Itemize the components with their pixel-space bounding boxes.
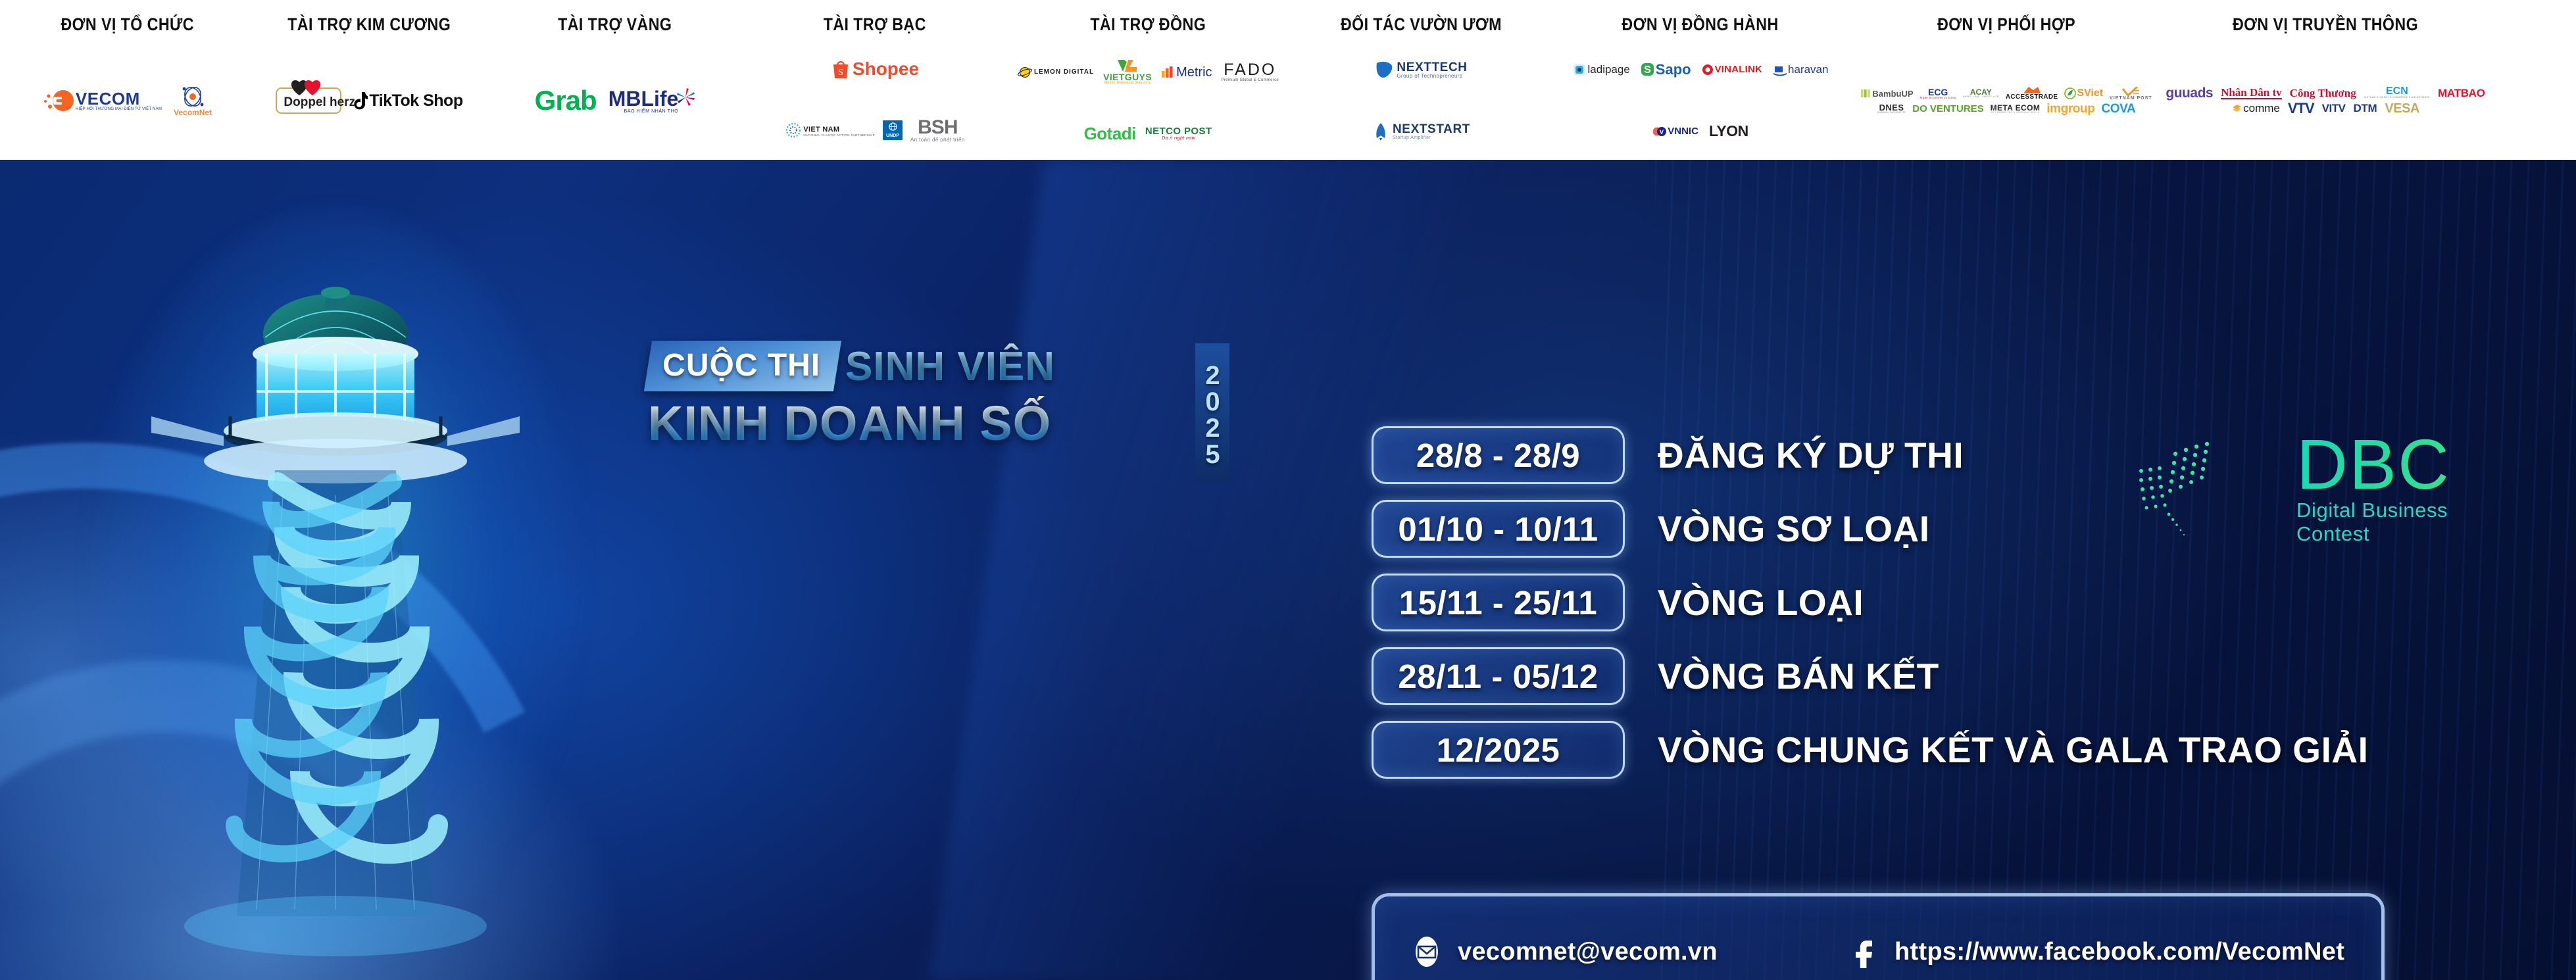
logo-label: Công Thương (2290, 87, 2356, 99)
logo-label: VITV (2322, 103, 2346, 114)
sponsor-logo-group: LEMON DIGITAL VIETGUYS Mobile Marketing … (1003, 35, 1293, 160)
logo-label: guuads (2166, 86, 2213, 100)
timeline-date: 01/10 - 10/11 (1398, 510, 1598, 549)
sponsor-section-title: ĐƠN VỊ TỔ CHỨC (61, 14, 194, 35)
logo-label: VIETNAM POST (2110, 96, 2152, 101)
logo-cong-thuong[interactable]: Công Thương (2290, 87, 2356, 99)
logo-label: LYON (1709, 124, 1748, 139)
sponsor-section-bronze: TÀI TRỢ ĐỒNG LEMON DIGITAL VIETGUYS Mobi… (1003, 0, 1293, 160)
sponsor-section-coordinator: ĐƠN VỊ PHỐI HỢP BambuUP ECG Make Ecommer… (1852, 0, 2161, 160)
logo-nextstart[interactable]: NEXTSTART Startup Amplifier (1322, 122, 1519, 141)
logo-label: ladipage (1588, 64, 1630, 75)
ladipage-mark-icon (1573, 63, 1586, 76)
logo-label: MBLife (608, 87, 679, 110)
shopee-bag-icon: S (831, 59, 851, 80)
svg-text:S: S (1644, 64, 1651, 76)
contact-info-box: vecomnet@vecom.vn https://www.facebook.c… (1372, 893, 2385, 980)
sponsor-section-title: TÀI TRỢ VÀNG (558, 14, 672, 35)
logo-label: VTV (2288, 101, 2314, 116)
timeline-date-chip: 15/11 - 25/11 (1372, 574, 1625, 631)
logo-label: Gotadi (1084, 125, 1136, 142)
logo-bambuup[interactable]: BambuUP (1860, 88, 1913, 99)
logo-metric[interactable]: Metric (1161, 66, 1212, 79)
dbc-text-block: DBC Digital Business Contest (2296, 431, 2503, 545)
logo-ladipage[interactable]: ladipage (1573, 63, 1630, 76)
logo-label: Sapo (1656, 62, 1691, 77)
lemon-planet-icon (1017, 65, 1033, 80)
sponsor-section-silver: TÀI TRỢ BẠC S Shopee VIET NAM NATIONAL P… (747, 0, 1003, 160)
svg-text:S: S (838, 68, 843, 78)
logo-nexttech[interactable]: NEXTTECH Group of Technopreneurs (1322, 61, 1519, 79)
logo-sapo[interactable]: S Sapo (1641, 62, 1691, 77)
logo-doppelherz[interactable]: Doppel herz (276, 87, 341, 113)
logo-comme[interactable]: comme (2231, 103, 2280, 114)
comme-mark-icon (2231, 103, 2242, 114)
logo-sublabel: Group of Technopreneurs (1397, 74, 1467, 79)
logo-label: BambuUP (1872, 89, 1913, 98)
vietnam-post-mark-icon (2121, 87, 2140, 96)
logo-sublabel: HIỆP HỘI THƯƠNG MẠI ĐIỆN TỬ VIỆT NAM (76, 107, 162, 111)
logo-ecn[interactable]: ECN VIETNAM STUDENT E-COMMERCE CLUB NETW… (2364, 86, 2430, 99)
logo-label: Grab (535, 87, 597, 114)
timeline-date: 28/8 - 28/9 (1416, 436, 1580, 475)
contest-timeline: 28/8 - 28/9 ĐĂNG KÝ DỰ THI 01/10 - 10/11… (1372, 420, 2161, 788)
contact-email[interactable]: vecomnet@vecom.vn (1409, 934, 1830, 969)
haravan-mark-icon (1773, 63, 1787, 76)
logo-label: COVA (2101, 103, 2135, 115)
undp-globe-icon (889, 122, 897, 131)
title-chip-cuocthi: CUỘC THI (644, 341, 841, 391)
logo-sublabel: Startup Amplifier (1393, 135, 1470, 140)
bambuup-mark-icon (1860, 88, 1871, 99)
dbc-tagline: Digital Business Contest (2296, 499, 2503, 546)
logo-lyon[interactable]: LYON (1709, 124, 1748, 139)
email-icon (1409, 934, 1445, 969)
logo-label: VecomNet (174, 109, 212, 116)
timeline-date-chip: 12/2025 (1372, 721, 1625, 779)
timeline-date-chip: 28/8 - 28/9 (1372, 426, 1625, 484)
logo-matbao[interactable]: MATBAO (2438, 87, 2485, 99)
logo-vinalink[interactable]: VINALINK (1702, 64, 1762, 76)
logo-label: ECN (2386, 86, 2408, 97)
logo-label: NEXTTECH (1397, 61, 1467, 74)
nextstart-rocket-icon (1372, 122, 1390, 141)
logo-label: Doppel herz (284, 97, 334, 108)
logo-gotadi[interactable]: Gotadi (1084, 125, 1136, 142)
sponsor-section-organizer: ĐƠN VỊ TỔ CHỨC VECOM HIỆP HỘI THƯƠNG MẠI… (0, 0, 255, 160)
sponsor-bar: ĐƠN VỊ TỔ CHỨC VECOM HIỆP HỘI THƯƠNG MẠI… (0, 0, 2576, 160)
logo-vesa[interactable]: VESA (2385, 102, 2419, 115)
lighthouse-illustration (125, 219, 546, 962)
mblife-burst-icon (676, 87, 695, 109)
sponsor-section-title: TÀI TRỢ BẠC (824, 14, 926, 35)
sponsor-section-title: ĐƠN VỊ TRUYỀN THÔNG (2233, 14, 2418, 35)
logo-label: MATBAO (2438, 87, 2485, 99)
logo-label: NETCO POST (1145, 126, 1212, 136)
logo-sublabel: GET MARKETING & LEARNING SKILLS (1991, 112, 2039, 114)
logo-label: VIET NAM (803, 126, 839, 134)
logo-label: comme (2243, 103, 2280, 114)
timeline-date: 12/2025 (1437, 731, 1560, 770)
logo-do-ventures[interactable]: DO VENTURES (1912, 104, 1983, 114)
logo-label: NEXTSTART (1393, 122, 1470, 136)
hearts-icon (287, 79, 327, 96)
logo-ecg[interactable]: ECG Make Ecommerce Easy (1920, 87, 1956, 100)
logo-label: VNNIC (1668, 126, 1698, 136)
sponsor-logo-group: VECOM HIỆP HỘI THƯƠNG MẠI ĐIỆN TỬ VIỆT N… (39, 35, 216, 160)
timeline-date-chip: 01/10 - 10/11 (1372, 500, 1625, 558)
timeline-label: VÒNG LOẠI (1658, 581, 1864, 624)
logo-fado[interactable]: FADO Premium Global E-Commerce (1222, 62, 1279, 82)
logo-label: Nhân Dân tv (2221, 87, 2282, 99)
dbc-wordmark: DBC (2296, 431, 2503, 497)
sponsor-section-title: ĐƠN VỊ ĐỒNG HÀNH (1622, 14, 1779, 35)
timeline-row: 28/8 - 28/9 ĐĂNG KÝ DỰ THI (1372, 420, 2161, 491)
contact-email-text: vecomnet@vecom.vn (1458, 938, 1718, 966)
contact-facebook[interactable]: https://www.facebook.com/VecomNet (1846, 934, 2347, 969)
logo-label: TikTok Shop (369, 93, 462, 109)
sponsor-logo-group: S Shopee VIET NAM NATIONAL PLASTIC ACTIO… (747, 35, 1003, 160)
logo-label: UNDP (886, 134, 899, 138)
logo-haravan[interactable]: haravan (1773, 63, 1828, 76)
logo-sviet[interactable]: SViet (2064, 87, 2103, 99)
logo-mblife[interactable]: MBLife BẢO HIỂM NHÂN THỌ (608, 87, 696, 114)
logo-tiktok-shop[interactable]: TikTok Shop (352, 91, 462, 110)
logo-label: VINALINK (1715, 64, 1762, 74)
logo-label: VIETGUYS (1103, 72, 1152, 82)
vinalink-mark-icon (1702, 64, 1714, 76)
logo-imgroup[interactable]: imgroup (2046, 103, 2094, 115)
logo-sublabel: An toàn để phát triển (910, 137, 965, 143)
vietguys-mark-icon (1116, 59, 1139, 72)
sapo-mark-icon: S (1641, 62, 1654, 76)
logo-label: Metric (1176, 66, 1212, 79)
logo-vietnam-post[interactable]: VIETNAM POST (2110, 87, 2152, 101)
vnnic-mark-icon: V (1652, 125, 1667, 138)
logo-label: META ECOM (1991, 104, 2041, 112)
vecom-mark-icon (43, 87, 74, 114)
logo-label: SViet (2077, 88, 2103, 99)
metric-bars-icon (1161, 66, 1174, 78)
logo-sublabel: DANANG INCUBATOR (1877, 112, 1906, 114)
logo-label: BSH (918, 118, 957, 137)
logo-vnnic[interactable]: V VNNIC (1652, 125, 1698, 138)
hero-banner: CUỘC THI SINH VIÊN KINH DOANH SỐ 2025 (0, 160, 2576, 980)
logo-label: VESA (2385, 102, 2419, 115)
facebook-icon (1846, 934, 1881, 969)
vecomnet-atom-icon (180, 86, 206, 108)
title-row-top: CUỘC THI SINH VIÊN (648, 341, 1227, 391)
logo-label: imgroup (2046, 103, 2094, 115)
logo-meta-ecom[interactable]: META ECOM GET MARKETING & LEARNING SKILL… (1991, 104, 2041, 114)
timeline-label: VÒNG BÁN KẾT (1658, 655, 1939, 697)
timeline-date: 28/11 - 05/12 (1398, 657, 1598, 696)
lighthouse-icon (125, 219, 546, 962)
logo-label: DTM (2353, 103, 2377, 114)
logo-bsh[interactable]: BSH An toàn để phát triển (910, 118, 965, 143)
logo-cova[interactable]: COVA (2101, 103, 2135, 115)
title-row-bottom: KINH DOANH SỐ (648, 395, 1227, 451)
logo-netco-post[interactable]: NETCO POST Do it right now (1145, 126, 1212, 141)
logo-label: haravan (1788, 64, 1828, 75)
logo-label: FADO (1224, 62, 1276, 78)
contest-title-lockup: CUỘC THI SINH VIÊN KINH DOANH SỐ 2025 (648, 341, 1227, 492)
sponsor-logo-group: BambuUP ECG Make Ecommerce Easy ACAY HAP… (1852, 35, 2161, 160)
sponsor-section-media: ĐƠN VỊ TRUYỀN THÔNG guuads Nhân Dân tv C… (2161, 0, 2490, 160)
title-chip-label: CUỘC THI (662, 347, 820, 383)
sponsor-section-gold: TÀI TRỢ VÀNG Grab MBLife BẢO HIỂM NHÂN T… (483, 0, 747, 160)
timeline-label: ĐĂNG KÝ DỰ THI (1658, 434, 1964, 476)
sponsor-section-diamond: TÀI TRỢ KIM CƯƠNG Doppel herz TikTok Sho… (255, 0, 483, 160)
logo-guuads[interactable]: guuads (2166, 86, 2213, 100)
sponsor-logo-group: Grab MBLife BẢO HIỂM NHÂN THỌ (531, 35, 700, 160)
logo-vitv[interactable]: VITV (2322, 103, 2346, 114)
sponsor-logo-group: NEXTTECH Group of Technopreneurs NEXTSTA… (1318, 35, 1523, 160)
timeline-date-chip: 28/11 - 05/12 (1372, 647, 1625, 705)
logo-vecom[interactable]: VECOM HIỆP HỘI THƯƠNG MẠI ĐIỆN TỬ VIỆT N… (43, 87, 162, 114)
sponsor-section-title: TÀI TRỢ ĐỒNG (1090, 14, 1206, 35)
sponsor-logo-group: guuads Nhân Dân tv Công Thương ECN VIETN… (2161, 35, 2490, 160)
logo-vtv[interactable]: VTV (2288, 101, 2314, 116)
sponsor-logo-group: ladipage S Sapo VINALINK h (1549, 35, 1852, 160)
logo-dnes[interactable]: DNES DANANG INCUBATOR (1877, 103, 1906, 114)
svg-text:V: V (1660, 129, 1664, 135)
logo-acay[interactable]: ACAY HAPPY LEAF - HAPPY LIFE (1963, 88, 1999, 99)
title-year-label: 2025 (1198, 361, 1227, 466)
nexttech-shield-icon (1374, 61, 1394, 79)
timeline-row: 15/11 - 25/11 VÒNG LOẠI (1372, 567, 2161, 638)
sponsor-section-title: ĐƠN VỊ PHỐI HỢP (1937, 14, 2075, 35)
logo-label: LEMON DIGITAL (1034, 68, 1094, 76)
sponsor-section-companion: ĐƠN VỊ ĐỒNG HÀNH ladipage S Sapo (1549, 0, 1852, 160)
logo-label: ECG (1928, 87, 1948, 97)
title-line-kinhdoanhso: KINH DOANH SỐ (648, 395, 1051, 451)
title-year-badge: 2025 (1195, 343, 1229, 484)
logo-dtm[interactable]: DTM (2353, 103, 2377, 114)
logo-vietnam-npap[interactable]: VIET NAM NATIONAL PLASTIC ACTION PARTNER… (785, 122, 875, 139)
logo-vecomnet[interactable]: VecomNet (174, 86, 212, 116)
logo-nhan-dan-tv[interactable]: Nhân Dân tv (2221, 87, 2282, 99)
logo-label: VECOM (76, 89, 140, 109)
logo-sublabel: Do it right now (1162, 136, 1195, 141)
contact-facebook-text: https://www.facebook.com/VecomNet (1895, 938, 2344, 966)
dbc-brand-logo[interactable]: DBC Digital Business Contest (2135, 423, 2503, 554)
npap-dots-icon (785, 122, 802, 139)
logo-accesstrade[interactable]: ACCESSTRADE (2006, 86, 2058, 101)
logo-sublabel: VIETNAM STUDENT E-COMMERCE CLUB NETWORK (2364, 97, 2430, 99)
logo-vietguys[interactable]: VIETGUYS Mobile Marketing Solutions (1103, 59, 1152, 85)
logo-sublabel: NATIONAL PLASTIC ACTION PARTNERSHIP (803, 134, 875, 137)
logo-grab[interactable]: Grab (535, 87, 597, 114)
sponsor-logo-group: Doppel herz TikTok Shop (272, 35, 466, 160)
sponsor-section-title: ĐỐI TÁC VƯỜN ƯƠM (1341, 14, 1502, 35)
logo-undp[interactable]: UNDP (883, 120, 903, 140)
logo-sublabel: Mobile Marketing Solutions (1104, 82, 1151, 85)
timeline-row: 28/11 - 05/12 VÒNG BÁN KẾT (1372, 641, 2161, 712)
logo-sublabel: Make Ecommerce Easy (1920, 97, 1956, 100)
sponsor-section-title: TÀI TRỢ KIM CƯƠNG (287, 14, 451, 35)
logo-label: DO VENTURES (1912, 104, 1983, 114)
logo-label: ACCESSTRADE (2006, 94, 2058, 101)
timeline-row: 01/10 - 10/11 VÒNG SƠ LOẠI (1372, 493, 2161, 564)
timeline-row: 12/2025 VÒNG CHUNG KẾT VÀ GALA TRAO GIẢI (1372, 714, 2161, 785)
logo-sublabel: HAPPY LEAF - HAPPY LIFE (1963, 96, 1999, 99)
timeline-label: VÒNG CHUNG KẾT VÀ GALA TRAO GIẢI (1658, 729, 2368, 771)
logo-lemon-digital[interactable]: LEMON DIGITAL (1017, 65, 1094, 80)
sponsor-section-incubator: ĐỐI TÁC VƯỜN ƯƠM NEXTTECH Group of Techn… (1293, 0, 1549, 160)
timeline-date: 15/11 - 25/11 (1399, 583, 1597, 622)
logo-shopee[interactable]: S Shopee (751, 59, 999, 80)
title-line-sinhvien: SINH VIÊN (845, 343, 1055, 391)
timeline-label: VÒNG SƠ LOẠI (1658, 508, 1930, 550)
logo-sublabel: Premium Global E-Commerce (1222, 78, 1279, 82)
sviet-leaf-icon (2064, 87, 2076, 99)
logo-label: Shopee (853, 60, 919, 78)
